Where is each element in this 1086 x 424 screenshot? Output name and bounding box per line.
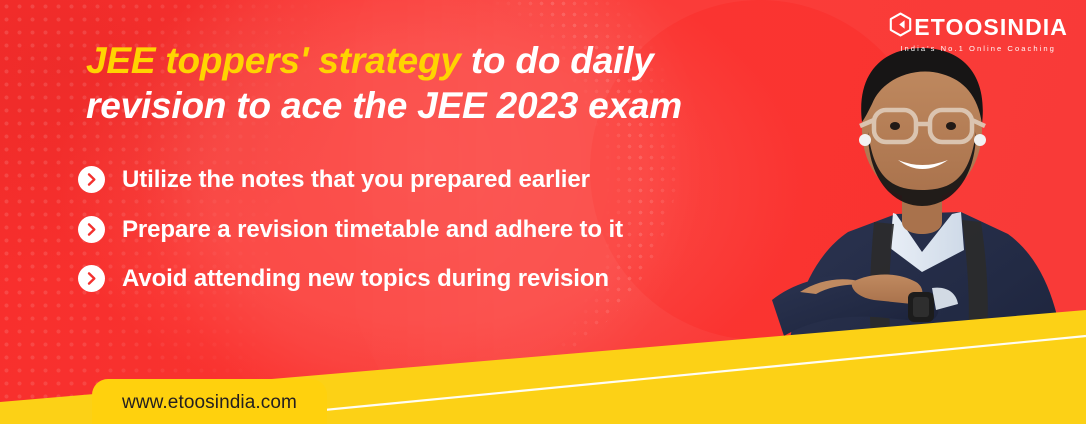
logo-tagline: India's No.1 Online Coaching xyxy=(900,45,1056,53)
website-url-label: www.etoosindia.com xyxy=(122,393,297,412)
chevron-right-circle-icon xyxy=(78,265,105,292)
headline-line-1: JEE toppers' strategy to do daily xyxy=(86,38,786,83)
headline-line-2: revision to ace the JEE 2023 exam xyxy=(86,83,786,128)
list-item: Prepare a revision timetable and adhere … xyxy=(78,216,623,244)
headline: JEE toppers' strategy to do daily revisi… xyxy=(86,38,786,128)
list-item-label: Utilize the notes that you prepared earl… xyxy=(122,166,590,194)
headline-line-1-rest: to do daily xyxy=(461,40,654,81)
chevron-right-circle-icon xyxy=(78,216,105,243)
list-item-label: Prepare a revision timetable and adhere … xyxy=(122,216,623,244)
brand-logo[interactable]: ETOOSINDIA India's No.1 Online Coaching xyxy=(888,12,1068,53)
headline-accent: JEE toppers' strategy xyxy=(86,40,461,81)
hexagon-e-icon xyxy=(888,12,913,42)
bullet-list: Utilize the notes that you prepared earl… xyxy=(78,166,623,293)
chevron-right-circle-icon xyxy=(78,166,105,193)
list-item: Avoid attending new topics during revisi… xyxy=(78,265,623,293)
list-item-label: Avoid attending new topics during revisi… xyxy=(122,265,609,293)
website-url-pill[interactable]: www.etoosindia.com xyxy=(92,379,327,424)
list-item: Utilize the notes that you prepared earl… xyxy=(78,166,623,194)
promo-banner: ETOOSINDIA India's No.1 Online Coaching … xyxy=(0,0,1086,424)
logo-wordmark: ETOOSINDIA xyxy=(914,16,1068,39)
